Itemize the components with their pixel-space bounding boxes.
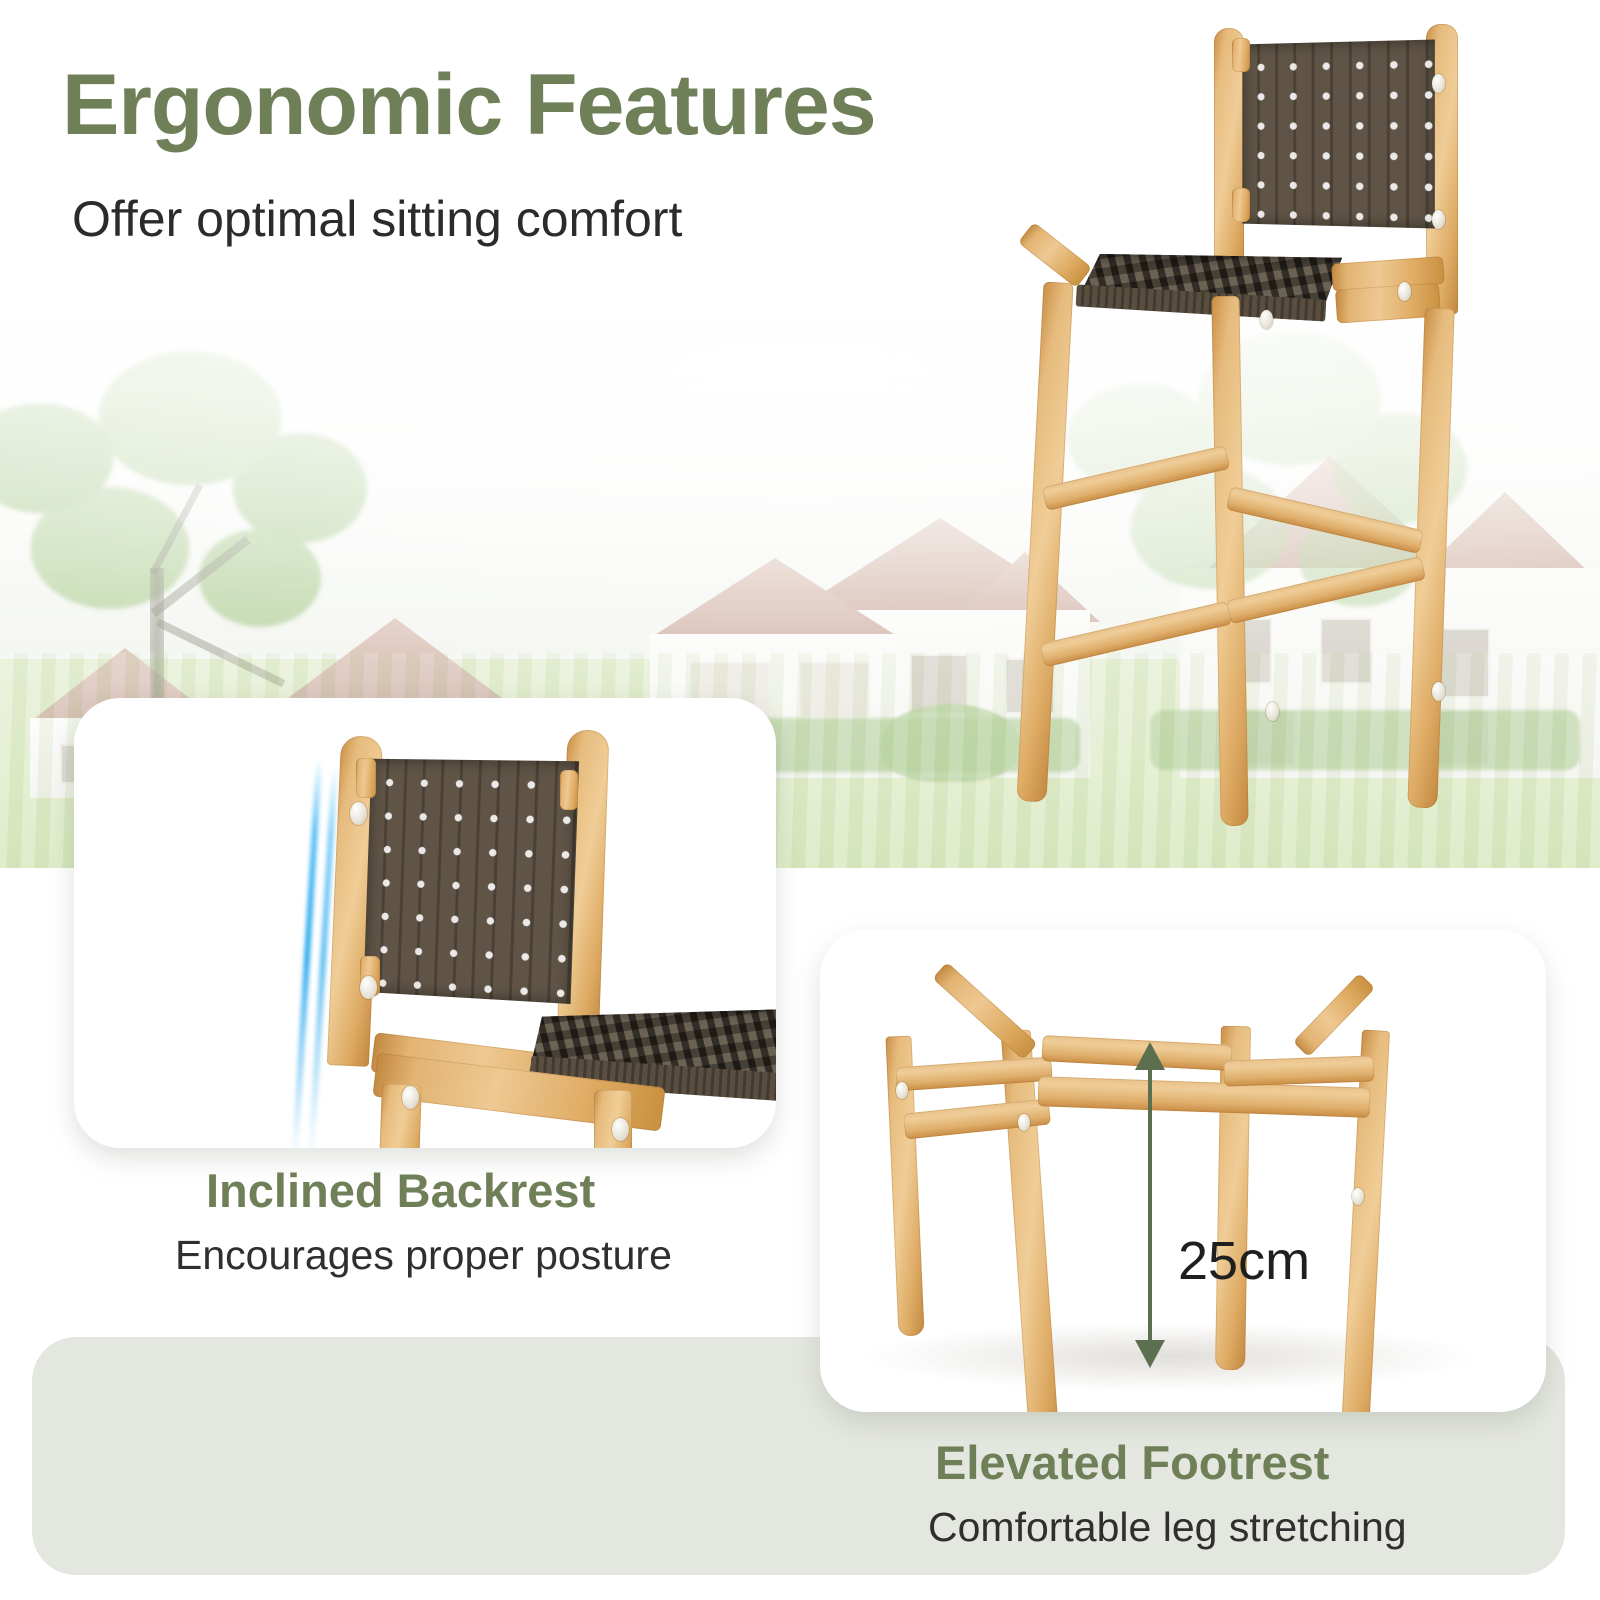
feature-subtitle-inclined-backrest: Encourages proper posture <box>175 1232 672 1279</box>
floor-shadow <box>860 1322 1480 1392</box>
screw-cap <box>1260 310 1273 329</box>
weave-pattern <box>1242 39 1435 228</box>
screw-cap <box>360 976 377 999</box>
screw-cap <box>1352 1188 1364 1205</box>
screw-cap <box>1266 702 1279 721</box>
screw-cap <box>402 1086 419 1109</box>
screw-cap <box>1398 282 1411 301</box>
closeup-backrest-weave <box>364 759 580 1004</box>
screw-cap <box>1432 210 1445 229</box>
backrest-mount-top <box>356 758 376 798</box>
screw-cap <box>1018 1114 1030 1131</box>
footrest-bar-right <box>1224 1055 1375 1086</box>
backrest-mount-top <box>1232 38 1250 72</box>
chair-stretcher-left-lower <box>1040 601 1232 668</box>
closeup-footrest-image: 25cm <box>820 930 1546 1412</box>
feature-title-inclined-backrest: Inclined Backrest <box>206 1163 595 1218</box>
screw-cap <box>896 1082 908 1099</box>
backrest-mount-right <box>560 770 578 810</box>
screw-cap <box>350 802 367 825</box>
chair-backrest-weave <box>1242 39 1435 228</box>
dimension-arrow-down <box>1135 1340 1165 1368</box>
chair-stretcher-right-upper <box>1226 556 1426 624</box>
chair-stretcher-left-diagonal <box>1042 445 1231 511</box>
footrest-brace-diagonal <box>932 962 1037 1060</box>
poster-canvas: Ergonomic Features Offer optimal sitting… <box>0 0 1600 1600</box>
dimension-label-25cm: 25cm <box>1178 1230 1310 1292</box>
backrest-mount-bottom <box>1232 188 1250 222</box>
dimension-line <box>1148 1058 1152 1346</box>
closeup-leg-rear <box>594 1090 632 1148</box>
page-title: Ergonomic Features <box>62 56 876 155</box>
feature-subtitle-elevated-footrest: Comfortable leg stretching <box>928 1504 1407 1551</box>
chair-stretcher-right-diagonal <box>1226 486 1424 554</box>
seat-rail-front <box>1018 222 1092 288</box>
screw-cap <box>1432 682 1445 701</box>
feature-title-elevated-footrest: Elevated Footrest <box>935 1435 1329 1490</box>
weave-pattern <box>364 759 580 1004</box>
feature-card-elevated-footrest: 25cm <box>820 930 1546 1412</box>
screw-cap <box>1432 74 1445 93</box>
screw-cap <box>612 1118 629 1141</box>
closeup-backrest-image <box>224 718 776 1148</box>
page-subtitle: Offer optimal sitting comfort <box>72 190 682 248</box>
product-bar-stool-hero <box>980 10 1500 870</box>
feature-card-inclined-backrest <box>74 698 776 1148</box>
chair-leg-front-left <box>1016 282 1073 803</box>
